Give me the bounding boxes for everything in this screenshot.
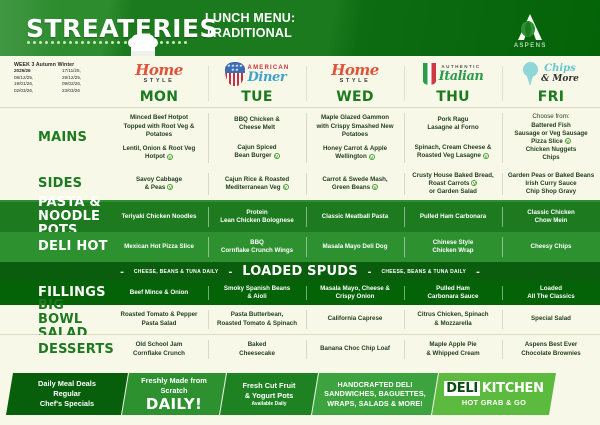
cell-pasta-wed: Classic Meatball Pasta <box>306 202 404 232</box>
spuds-tag-left: CHEESE, BEANS & TUNA DAILY <box>134 269 219 275</box>
cell-delihot-fri: Cheesy Chips <box>502 232 600 262</box>
mains-wed-l2: with Crispy Smashed New <box>316 123 393 131</box>
footer-left-edge <box>0 363 7 425</box>
american-shield-icon: ★★★★★★ <box>225 62 245 86</box>
week-info-column: WEEK 3 Autumn Winter 2025/26 17/11/25, 0… <box>0 56 110 107</box>
cell-salad-tue: Pasta Butterbean, Roasted Tomato & Spina… <box>208 305 306 334</box>
fillings-mon-l1: Beef Mince & Onion <box>130 289 188 297</box>
mains-wed-l3: Potatoes <box>342 131 368 139</box>
menu-poster: STREATERIES LUNCH MENU: TRADITIONAL ASPE… <box>0 0 600 425</box>
spuds-dash-left: - <box>120 266 124 278</box>
cell-desserts-tue: Baked Cheesecake <box>208 335 306 364</box>
salad-mon-l1: Roasted Tomato & Pepper <box>121 311 198 319</box>
cell-fillings-thu: Pulled Ham Carbonara Sauce <box>404 281 502 305</box>
fillings-thu-l1: Pulled Ham <box>436 285 470 293</box>
pasta-tue-l1: Protein <box>246 209 267 217</box>
day-column-thu: AUTHENTIC Italian THU <box>404 56 502 107</box>
mains-wed-v2: WellingtonV <box>335 153 375 161</box>
deli-kitchen-logo: DELI KITCHEN <box>444 381 543 396</box>
sides-fri-l3: Chip Shop Gravy <box>526 188 576 196</box>
cell-mains-thu: Pork Ragu Lasagne al Forno Spinach, Crea… <box>404 108 502 168</box>
footer-banner-handcrafted-deli[interactable]: HANDCRAFTED DELI SANDWICHES, BAGUETTES, … <box>312 373 438 415</box>
cell-sides-wed: Carrot & Swede Mash, Green BeansV <box>306 168 404 200</box>
dk-sub: HOT GRAB & GO <box>462 398 526 407</box>
cell-fillings-mon: Beef Mince & Onion <box>110 281 208 305</box>
cell-salad-thu: Citrus Chicken, Spinach & Mozzarella <box>404 305 502 334</box>
cell-salad-mon: Roasted Tomato & Pepper Pasta Salad <box>110 305 208 334</box>
cell-salad-fri: Special Salad <box>502 305 600 334</box>
footer-banner-daily-meal-deals[interactable]: Daily Meal Deals Regular Chef's Specials <box>6 373 128 415</box>
diner-word-tue: Diner <box>248 71 287 84</box>
cell-mains-fri: Choose from: Battered Fish Sausage or Ve… <box>502 108 600 168</box>
vegetarian-icon: V <box>372 184 378 190</box>
chips-word-fri: Chips <box>544 64 576 74</box>
footer-banner-fresh-cut-fruit[interactable]: Fresh Cut Fruit & Yogurt Pots Available … <box>220 373 318 415</box>
desserts-tue-l1: Baked <box>248 341 267 349</box>
italian-flag-icon <box>423 63 436 85</box>
pasta-label-l1: PASTA & <box>38 196 110 210</box>
italian-word-thu: Italian <box>439 70 484 83</box>
fb3-l1: Fresh Cut Fruit <box>243 381 296 391</box>
salad-tue-l2: Roasted Tomato & Spinach <box>217 320 297 328</box>
desserts-wed-l1: Banana Choc Chip Loaf <box>320 345 390 353</box>
cell-pasta-tue: Protein Lean Chicken Bolognese <box>208 202 306 232</box>
delihot-wed-l1: Masala Mayo Deli Dog <box>323 243 388 251</box>
cuisine-logo-fri: Chips & More <box>502 59 600 89</box>
mains-thu-l2: Lasagne al Forno <box>427 124 478 132</box>
cell-sides-mon: Savoy Cabbage & PeasV <box>110 168 208 200</box>
fillings-tue-l2: & Aioli <box>247 293 266 301</box>
day-column-mon: Home STYLE MON <box>110 56 208 107</box>
fb3-l2: & Yogurt Pots <box>245 391 294 401</box>
cell-sides-tue: Cajun Rice & Roasted Mediterranean VegV <box>208 168 306 200</box>
desserts-thu-l2: & Whipped Cream <box>426 350 479 358</box>
sides-tue-l2: Mediterranean VegV <box>225 184 288 192</box>
cell-desserts-thu: Maple Apple Pie & Whipped Cream <box>404 335 502 364</box>
fb2-top: Freshly Made from Scratch <box>131 376 217 396</box>
day-header-band: WEEK 3 Autumn Winter 2025/26 17/11/25, 0… <box>0 56 600 108</box>
mains-fri-l5: Chips <box>542 154 559 162</box>
sides-tue-l1: Cajun Rice & Roasted <box>225 176 289 184</box>
pasta-tue-l2: Lean Chicken Bolognese <box>220 217 294 225</box>
cell-sides-thu: Crusty House Baked Bread, Roast CarrotsV… <box>404 168 502 200</box>
salad-wed-l1: California Caprese <box>328 315 383 323</box>
row-label-deli-hot: DELI HOT <box>0 232 110 262</box>
fillings-thu-l2: Carbonara Sauce <box>428 293 479 301</box>
week-date-5: 02/03/26, <box>14 88 62 94</box>
loaded-spuds-banner: - CHEESE, BEANS & TUNA DAILY - LOADED SP… <box>0 262 600 281</box>
day-name-fri: FRI <box>538 90 564 105</box>
cuisine-logo-tue: ★★★★★★ AMERICAN Diner <box>208 59 306 89</box>
sides-thu-l1: Crusty House Baked Bread, <box>412 172 494 180</box>
mains-fri-l4: Chicken Nuggets <box>526 146 577 154</box>
spuds-tag-right: CHEESE, BEANS & TUNA DAILY <box>381 269 466 275</box>
brand-dot-rule <box>27 41 187 47</box>
cell-pasta-fri: Classic Chicken Chow Mein <box>502 202 600 232</box>
mains-tue-v2: Bean BurgerV <box>234 152 279 160</box>
row-label-pasta: PASTA & NOODLE POTS <box>0 202 110 232</box>
fillings-fri-l2: All The Classics <box>527 293 574 301</box>
pasta-thu-l1: Pulled Ham Carbonara <box>420 213 486 221</box>
pasta-fri-l1: Classic Chicken <box>527 209 574 217</box>
delihot-tue-l1: BBQ <box>250 239 264 247</box>
fillings-wed-l2: Crispy Onion <box>336 293 375 301</box>
aspens-leaf-a-icon <box>515 12 545 42</box>
mains-tue-v1: Cajun Spiced <box>237 144 276 152</box>
cell-mains-tue: BBQ Chicken & Cheese Melt Cajun Spiced B… <box>208 108 306 168</box>
cell-mains-mon: Minced Beef Hotpot Topped with Root Veg … <box>110 108 208 168</box>
mains-wed-v1: Honey Carrot & Apple <box>323 145 387 153</box>
fb4-l3: WRAPS, SALADS & MORE! <box>327 399 423 409</box>
mains-mon-v2: HotpotV <box>145 153 173 161</box>
mains-thu-v2: Roasted Veg LasagneV <box>417 152 489 160</box>
salad-thu-l2: & Mozzarella <box>434 320 471 328</box>
homestyle-sub-wed: STYLE <box>340 79 371 85</box>
footer-banner-deli-kitchen[interactable]: DELI KITCHEN HOT GRAB & GO <box>432 373 556 415</box>
cell-fillings-tue: Smoky Spanish Beans & Aioli <box>208 281 306 305</box>
row-deli-hot: DELI HOT Mexican Hot Pizza Slice BBQ Cor… <box>0 232 600 262</box>
delihot-thu-l2: Chicken Wrap <box>432 247 473 255</box>
bbs-label-l1: BIG BOWL <box>38 299 110 327</box>
week-dates: 2025/26 17/11/25, 08/12/25, 29/12/25, 19… <box>14 68 110 94</box>
dk-word-kitchen: KITCHEN <box>480 381 544 396</box>
cell-pasta-thu: Pulled Ham Carbonara <box>404 202 502 232</box>
cuisine-logo-wed: Home STYLE <box>306 59 404 89</box>
footer-banners: Daily Meal Deals Regular Chef's Specials… <box>0 363 600 425</box>
fb1-l3: Chef's Specials <box>40 399 94 409</box>
sides-thu-l2: Roast CarrotsV <box>429 180 478 188</box>
dk-word-deli: DELI <box>444 381 480 396</box>
cell-mains-wed: Maple Glazed Gammon with Crispy Smashed … <box>306 108 404 168</box>
pasta-mon-l1: Teriyaki Chicken Noodles <box>122 213 197 221</box>
desserts-tue-l2: Cheesecake <box>239 350 275 358</box>
vegetarian-icon: V <box>471 180 477 186</box>
cell-pasta-mon: Teriyaki Chicken Noodles <box>110 202 208 232</box>
row-big-bowl-salad: BIG BOWL SALAD Roasted Tomato & Pepper P… <box>0 305 600 334</box>
mains-fri-choose: Choose from: <box>532 113 569 121</box>
homestyle-word-wed: Home <box>331 63 379 78</box>
vegetarian-icon: V <box>167 184 173 190</box>
fillings-wed-l1: Masala Mayo, Cheese & <box>320 285 390 293</box>
cell-sides-fri: Garden Peas or Baked Beans Irish Curry S… <box>502 168 600 200</box>
chef-hat-icon <box>126 34 160 56</box>
salad-fri-l1: Special Salad <box>531 315 571 323</box>
fb4-l1: HANDCRAFTED DELI <box>337 380 412 390</box>
mains-fri-l2: Sausage or Veg Sausage <box>514 130 587 138</box>
fillings-fri-l1: Loaded <box>540 285 562 293</box>
pasta-fri-l2: Chow Mein <box>535 217 568 225</box>
vegetarian-icon: V <box>565 138 571 144</box>
desserts-fri-l2: Chocolate Brownies <box>521 350 580 358</box>
day-name-mon: MON <box>140 90 178 105</box>
desserts-fri-l1: Aspens Best Ever <box>525 341 578 349</box>
spuds-title: LOADED SPUDS <box>242 264 358 279</box>
fb2-big: DAILY! <box>146 396 202 412</box>
mains-wed-l1: Maple Glazed Gammon <box>321 114 389 122</box>
aspens-logo-text: ASPENS <box>514 43 547 49</box>
menu-title-line1: LUNCH MENU: <box>205 11 295 26</box>
sides-wed-l1: Carrot & Swede Mash, <box>322 176 387 184</box>
sides-wed-l2: Green BeansV <box>332 184 378 192</box>
desserts-thu-l1: Maple Apple Pie <box>429 341 476 349</box>
delihot-thu-l1: Chinese Style <box>433 239 474 247</box>
delihot-tue-l2: Cornflake Crunch Wings <box>221 247 293 255</box>
mains-mon-v1: Lentil, Onion & Root Veg <box>123 145 196 153</box>
mains-thu-l1: Pork Ragu <box>438 116 469 124</box>
delihot-fri-l1: Cheesy Chips <box>531 243 572 251</box>
cuisine-logo-thu: AUTHENTIC Italian <box>404 59 502 89</box>
cell-fillings-fri: Loaded All The Classics <box>502 281 600 305</box>
row-label-big-bowl-salad: BIG BOWL SALAD <box>0 305 110 334</box>
cell-desserts-wed: Banana Choc Chip Loaf <box>306 335 404 364</box>
row-pasta-noodle-pots: PASTA & NOODLE POTS Teriyaki Chicken Noo… <box>0 202 600 232</box>
mains-fri-l1: Battered Fish <box>531 122 571 130</box>
vegetarian-icon: V <box>283 184 289 190</box>
mains-mon-l1: Minced Beef Hotpot <box>130 114 188 122</box>
menu-title-line2: TRADITIONAL <box>205 26 295 41</box>
fillings-tue-l1: Smoky Spanish Beans <box>224 285 290 293</box>
delihot-mon-l1: Mexican Hot Pizza Slice <box>124 243 194 251</box>
fb3-small: Available Daily <box>251 401 286 408</box>
cell-delihot-mon: Mexican Hot Pizza Slice <box>110 232 208 262</box>
salad-tue-l1: Pasta Butterbean, <box>231 311 284 319</box>
spuds-dash-right: - <box>476 266 480 278</box>
desserts-mon-l2: Cornflake Crunch <box>133 350 185 358</box>
menu-title: LUNCH MENU: TRADITIONAL <box>205 11 295 41</box>
sides-thu-l3: or Garden Salad <box>429 188 477 196</box>
cell-salad-wed: California Caprese <box>306 305 404 334</box>
salad-mon-l2: Pasta Salad <box>142 320 177 328</box>
day-name-wed: WED <box>336 90 374 105</box>
more-word-fri: & More <box>541 75 579 84</box>
mains-fri-l3: Pizza SliceV <box>531 138 571 146</box>
day-name-tue: TUE <box>241 90 272 105</box>
cell-delihot-wed: Masala Mayo Deli Dog <box>306 232 404 262</box>
fb1-l2: Regular <box>53 389 81 399</box>
cell-desserts-mon: Old School Jam Cornflake Crunch <box>110 335 208 364</box>
week-date-6: 23/03/26 <box>62 88 110 94</box>
sides-mon-l2: & PeasV <box>145 184 174 192</box>
day-column-wed: Home STYLE WED <box>306 56 404 107</box>
spuds-dash-2: - <box>229 266 233 278</box>
vegetarian-icon: V <box>167 154 173 160</box>
sides-fri-l2: Irish Curry Sauce <box>525 180 576 188</box>
mains-tue-l2: Cheese Melt <box>239 124 275 132</box>
cell-delihot-tue: BBQ Cornflake Crunch Wings <box>208 232 306 262</box>
ice-cream-cone-icon <box>523 62 538 86</box>
sides-fri-l1: Garden Peas or Baked Beans <box>508 172 594 180</box>
row-label-mains: MAINS <box>0 108 110 168</box>
row-mains: MAINS Minced Beef Hotpot Topped with Roo… <box>0 108 600 168</box>
vegetarian-icon: V <box>483 153 489 159</box>
fb4-l2: SANDWICHES, BAGUETTES, <box>324 389 426 399</box>
cell-desserts-fri: Aspens Best Ever Chocolate Brownies <box>502 335 600 364</box>
day-column-fri: Chips & More FRI <box>502 56 600 107</box>
sides-mon-l1: Savoy Cabbage <box>136 176 182 184</box>
vegetarian-icon: V <box>274 153 280 159</box>
fb1-l1: Daily Meal Deals <box>38 379 96 389</box>
salad-thu-l1: Citrus Chicken, Spinach <box>417 311 488 319</box>
row-desserts: DESSERTS Old School Jam Cornflake Crunch… <box>0 335 600 364</box>
homestyle-word-mon: Home <box>135 63 183 78</box>
pasta-wed-l1: Classic Meatball Pasta <box>322 213 388 221</box>
day-name-thu: THU <box>436 90 470 105</box>
mains-thu-v1: Spinach, Cream Cheese & <box>415 144 492 152</box>
vegetarian-icon: V <box>369 154 375 160</box>
homestyle-sub-mon: STYLE <box>144 79 175 85</box>
cuisine-logo-mon: Home STYLE <box>110 59 208 89</box>
cell-delihot-thu: Chinese Style Chicken Wrap <box>404 232 502 262</box>
aspens-logo: ASPENS <box>514 9 590 51</box>
footer-banner-freshly-made-daily[interactable]: Freshly Made from Scratch DAILY! <box>122 373 226 415</box>
mains-mon-l3: Potatoes <box>146 131 172 139</box>
spuds-dash-3: - <box>368 266 372 278</box>
brand-title: STREATERIES <box>26 14 218 43</box>
day-column-tue: ★★★★★★ AMERICAN Diner TUE <box>208 56 306 107</box>
poster-header: STREATERIES LUNCH MENU: TRADITIONAL ASPE… <box>0 0 600 56</box>
mains-tue-l1: BBQ Chicken & <box>234 116 280 124</box>
desserts-mon-l1: Old School Jam <box>136 341 183 349</box>
week-info: WEEK 3 Autumn Winter 2025/26 17/11/25, 0… <box>14 62 110 94</box>
cell-fillings-wed: Masala Mayo, Cheese & Crispy Onion <box>306 281 404 305</box>
mains-mon-l2: Topped with Root Veg & <box>124 123 195 131</box>
row-label-desserts: DESSERTS <box>0 335 110 364</box>
